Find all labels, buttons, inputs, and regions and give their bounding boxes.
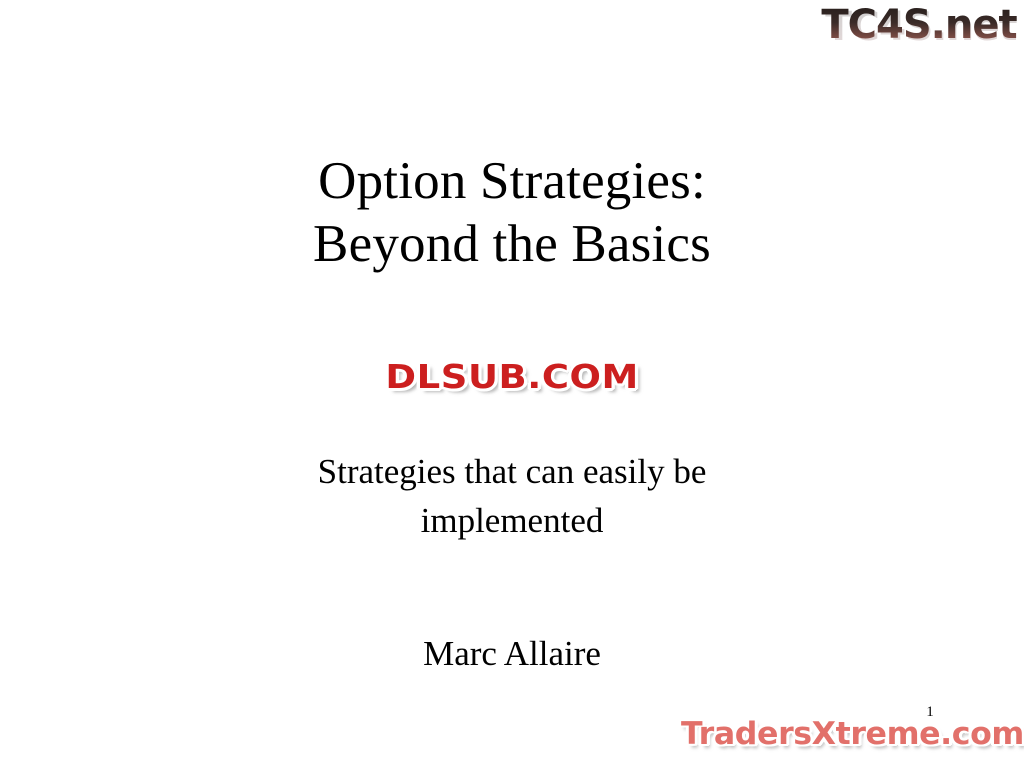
dlsub-logo-box: DLSUB.COM bbox=[393, 356, 631, 399]
dlsub-logo-text: DLSUB.COM bbox=[385, 358, 638, 396]
slide-title: Option Strategies: Beyond the Basics bbox=[0, 150, 1024, 276]
dlsub-logo-watermark: DLSUB.COM bbox=[0, 356, 1024, 399]
tradersxtreme-logo-text: TradersXtreme.com bbox=[681, 713, 1024, 755]
subtitle-line-2: implemented bbox=[0, 496, 1024, 545]
slide-author: Marc Allaire bbox=[0, 632, 1024, 676]
tc4s-logo-shadow-text: TC4S.net bbox=[825, 4, 1017, 50]
subtitle-line-1: Strategies that can easily be bbox=[0, 447, 1024, 496]
author-name: Marc Allaire bbox=[423, 634, 601, 673]
tc4s-logo-watermark: TC4S.net TC4S.net bbox=[820, 0, 1020, 52]
slide-subtitle: Strategies that can easily be implemente… bbox=[0, 447, 1024, 545]
slide-number: 1 bbox=[918, 703, 942, 721]
title-line-2: Beyond the Basics bbox=[0, 213, 1024, 276]
presentation-slide: TC4S.net TC4S.net Option Strategies: Bey… bbox=[0, 0, 1024, 767]
tradersxtreme-logo-watermark: TradersXtreme.com bbox=[681, 713, 1024, 761]
title-line-1: Option Strategies: bbox=[0, 150, 1024, 213]
tc4s-logo-text: TC4S.net bbox=[821, 2, 1017, 48]
